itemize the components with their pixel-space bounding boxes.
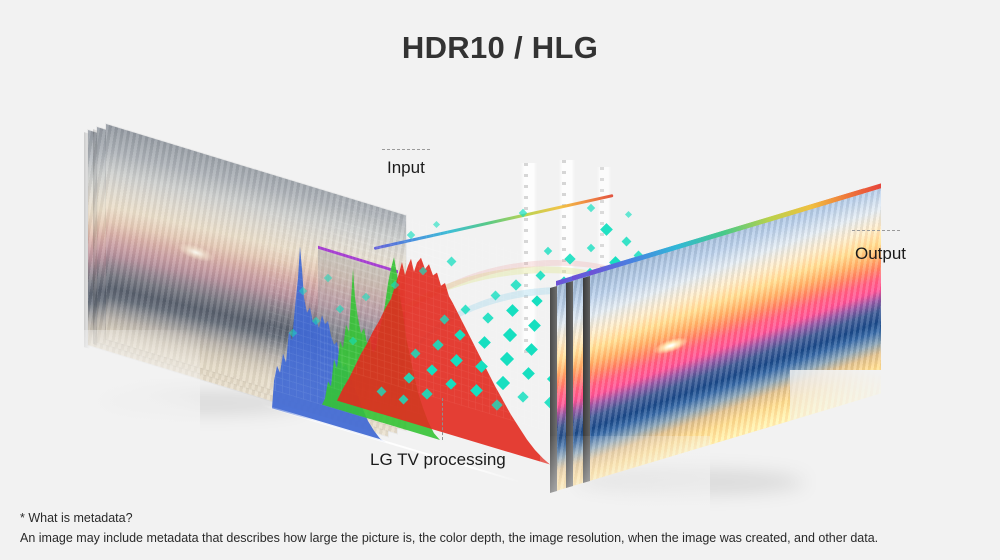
callout-label-input: Input — [387, 158, 425, 178]
callout-label-output: Output — [855, 244, 906, 264]
output-right-fade-mask — [790, 370, 900, 490]
input-leader-line — [382, 149, 430, 150]
output-leader-line — [852, 230, 900, 231]
diagram-stage: HDR10 / HLG — [0, 0, 1000, 560]
callout-label-processing: LG TV processing — [370, 450, 506, 470]
footnote: * What is metadata? An image may include… — [20, 509, 878, 548]
footnote-heading: * What is metadata? — [20, 509, 878, 528]
footnote-body: An image may include metadata that descr… — [20, 529, 878, 548]
processing-leader-line — [442, 398, 443, 440]
